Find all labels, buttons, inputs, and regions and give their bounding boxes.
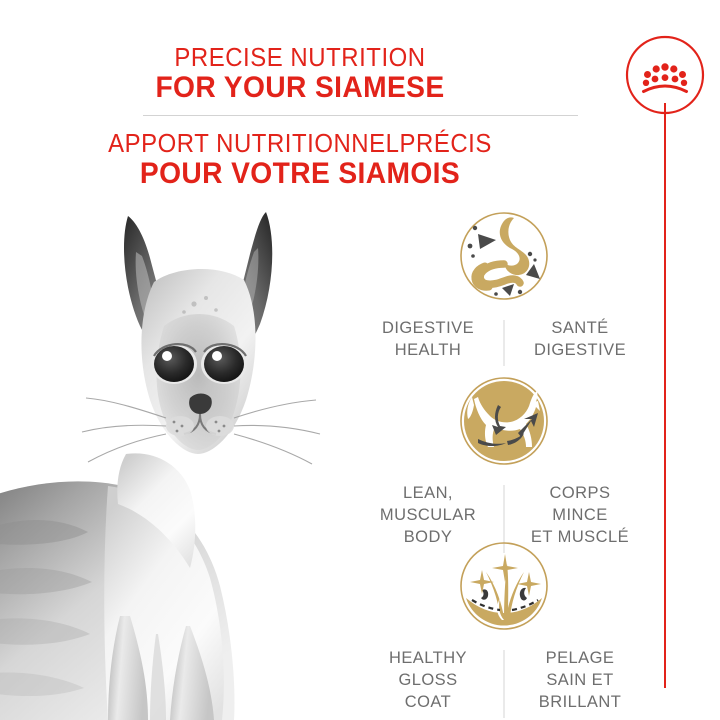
sparkle-icon [492, 554, 518, 582]
title-fr-line2: POUR VOTRE SIAMOIS [18, 159, 582, 189]
skin-base [466, 598, 542, 626]
label-divider [504, 320, 505, 366]
follicle-mark [520, 588, 527, 601]
page-title-english: PRECISE NUTRITION FOR YOUR SIAMESE [0, 44, 600, 103]
arrow-marker [502, 284, 514, 296]
label-line: HEALTHY [364, 648, 492, 670]
cat-eye-right [204, 346, 244, 382]
label-line: COAT [364, 692, 492, 714]
header: PRECISE NUTRITION FOR YOUR SIAMESE APPOR… [0, 0, 720, 200]
benefit-label-english: HEALTHY GLOSS COAT [364, 648, 504, 714]
benefit-label-french: SANTÉ DIGESTIVE [504, 318, 644, 362]
label-line: DIGESTIVE [516, 340, 644, 362]
label-line: BRILLANT [516, 692, 644, 714]
benefit-label-english: DIGESTIVE HEALTH [364, 318, 504, 362]
label-divider [504, 650, 505, 718]
label-line: CORPS [516, 483, 644, 505]
label-line: SAIN ET [516, 670, 644, 692]
logo-stem-line [664, 103, 666, 688]
cat-photo [0, 186, 388, 720]
label-line: SANTÉ [516, 318, 644, 340]
label-line: HEALTH [364, 340, 492, 362]
page-title-french: APPORT NUTRITIONNELPRÉCIS POUR VOTRE SIA… [0, 130, 600, 189]
label-line: MINCE [516, 505, 644, 527]
benefit-labels: DIGESTIVE HEALTH SANTÉ DIGESTIVE [348, 318, 660, 362]
label-line: GLOSS [364, 670, 492, 692]
benefit-item-digestive-health: DIGESTIVE HEALTH SANTÉ DIGESTIVE [348, 204, 660, 362]
benefit-item-healthy-gloss-coat: HEALTHY GLOSS COAT PELAGE SAIN ET BRILLA… [348, 534, 660, 714]
sparkle-icon [470, 570, 494, 594]
cat-eye-left [154, 346, 194, 382]
brand-logo [624, 34, 706, 121]
label-line: PELAGE [516, 648, 644, 670]
benefit-labels: HEALTHY GLOSS COAT PELAGE SAIN ET BRILLA… [348, 648, 660, 714]
label-line: LEAN, [364, 483, 492, 505]
royal-canin-crown-logo-icon [624, 34, 706, 116]
lean-muscular-body-cat-icon [452, 369, 556, 473]
header-divider [143, 115, 578, 116]
benefits-list: DIGESTIVE HEALTH SANTÉ DIGESTIVE [348, 204, 660, 716]
title-en-line1: PRECISE NUTRITION [24, 44, 576, 70]
arrow-marker [478, 234, 496, 249]
benefit-label-french: PELAGE SAIN ET BRILLANT [504, 648, 644, 714]
title-en-line2: FOR YOUR SIAMESE [18, 73, 582, 103]
digestive-health-stomach-icon [452, 204, 556, 308]
label-line: DIGESTIVE [364, 318, 492, 340]
healthy-gloss-coat-fur-icon [452, 534, 556, 638]
benefit-item-lean-muscular-body: LEAN, MUSCULAR BODY CORPS MINCE ET MUSCL… [348, 369, 660, 549]
label-line: MUSCULAR [364, 505, 492, 527]
title-fr-line1: APPORT NUTRITIONNELPRÉCIS [24, 130, 576, 156]
